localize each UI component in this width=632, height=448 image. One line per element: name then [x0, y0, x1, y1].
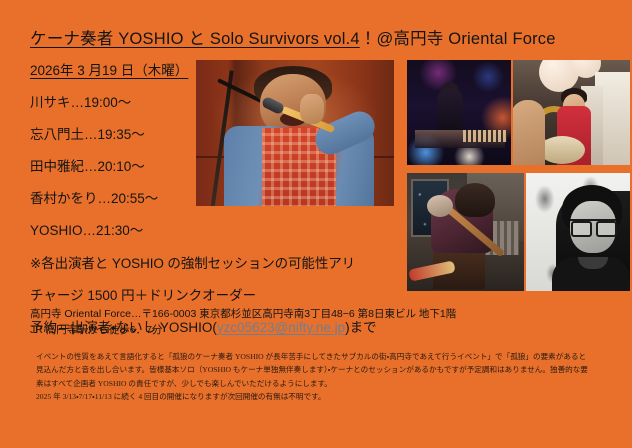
fine-print-block: イベントの性質をあえて言語化すると「孤狼のケーナ奏者 YOSHIO が長年苦手に…	[36, 350, 616, 403]
page-title-rest: ！@高円寺 Oriental Force	[360, 30, 556, 48]
fine-print-line-2: 見込んだ方と音を出し合います。皆様基本ソロ（YOSHIO もケーナ単独無伴奏しま…	[36, 363, 616, 376]
lineup-item-5: YOSHIO…21:30〜	[30, 224, 430, 238]
session-note: ※各出演者と YOSHIO の強制セッションの可能性アリ	[30, 257, 430, 271]
venue-address: 高円寺 Oriental Force…〒166-0003 東京都杉並区高円寺南3…	[30, 306, 456, 322]
photo-portrait-glasses-right-lens	[596, 221, 617, 237]
photo-stage-keyboard	[463, 130, 507, 142]
fine-print-line-3: 素はすべて企画者 YOSHIO の責任ですが、少しでも楽しんでいただけるようにし…	[36, 377, 616, 390]
event-flyer: ケーナ奏者 YOSHIO と Solo Survivors vol.4！@高円寺…	[0, 0, 632, 448]
photo-sitar-player	[407, 173, 524, 291]
photo-quena-hand	[300, 94, 324, 124]
page-title-underlined: ケーナ奏者 YOSHIO と Solo Survivors vol.4	[30, 30, 360, 48]
venue-info: 高円寺 Oriental Force…〒166-0003 東京都杉並区高円寺南3…	[30, 306, 456, 339]
photo-band-straw-hat	[539, 136, 585, 164]
fine-print-line-1: イベントの性質をあえて言語化すると「孤狼のケーナ奏者 YOSHIO が長年苦手に…	[36, 350, 616, 363]
page-title: ケーナ奏者 YOSHIO と Solo Survivors vol.4！@高円寺…	[30, 30, 556, 50]
photo-portrait-glasses-left-lens	[571, 221, 592, 237]
photo-brass-band	[513, 60, 630, 165]
photo-bw-portrait	[526, 173, 630, 291]
photo-portrait-glasses	[570, 219, 616, 233]
charge-note: チャージ 1500 円＋ドリンクオーダー	[30, 289, 430, 303]
photo-stage-performer-body	[437, 88, 463, 132]
photo-sitar-instrument-body	[427, 195, 453, 217]
photo-sitar-player-hair	[455, 183, 495, 217]
photo-band-foreground-figure	[513, 100, 545, 165]
photo-quena-flute-player	[196, 60, 394, 206]
photo-dark-stage	[407, 60, 511, 165]
fine-print-line-4: 2025 年 3/13・7/17・11/13 に続く 4 回目の開催になりますが…	[36, 390, 616, 403]
venue-access: JR 高円寺駅から徒歩6．7分	[30, 322, 456, 338]
